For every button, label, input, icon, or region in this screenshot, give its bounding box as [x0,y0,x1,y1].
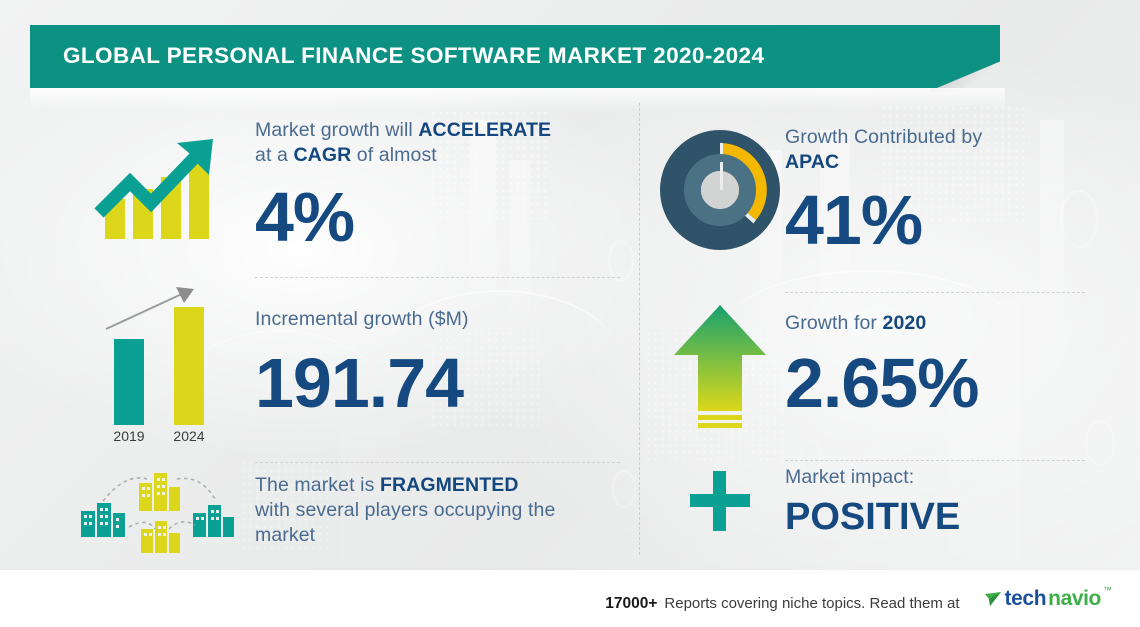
technavio-logo[interactable]: technavio™ [983,587,1112,611]
fragmented-buildings-icon [60,460,255,560]
market-impact-lead: Market impact: [785,465,1085,490]
two-bar-growth-icon: 2019 2024 [60,283,255,443]
fragmented-line-3: market [255,524,315,546]
donut-chart-icon [655,120,785,260]
report-count: 17000+ [605,595,657,613]
cagr-accelerate-word: ACCELERATE [418,119,551,141]
bg-ring [1085,420,1115,466]
footer: 17000+ Reports covering niche topics. Re… [0,571,1140,627]
cagr-lead: Market growth will ACCELERATE at a CAGR … [255,118,620,168]
plus-icon [655,456,785,546]
fragmented-lead: The market is FRAGMENTED with several pl… [255,473,620,548]
apac-lead: Growth Contributed by APAC [785,125,1085,175]
market-impact-value: POSITIVE [785,498,1085,536]
stat-block-market-impact: Market impact: POSITIVE [655,448,1085,553]
apac-word: APAC [785,151,839,173]
cagr-text: Market growth will ACCELERATE at a CAGR … [255,118,620,252]
stat-block-growth-2020: Growth for 2020 2.65% [655,280,1085,448]
growth-arrow-chart-icon [60,115,255,255]
bar-label-2019: 2019 [113,428,144,443]
growth-2020-text: Growth for 2020 2.65% [785,311,1085,418]
growth-2020-value: 2.65% [785,348,1085,418]
growth-2020-year: 2020 [883,312,927,334]
incremental-growth-text: Incremental growth ($M) 191.74 [255,307,620,418]
cagr-word: CAGR [293,144,351,166]
cagr-lead-plain-3: of almost [351,144,437,166]
logo-tech-text: tech [1005,587,1047,611]
header-banner: GLOBAL PERSONAL FINANCE SOFTWARE MARKET … [30,25,1000,88]
up-arrow-icon [655,294,785,434]
left-column: Market growth will ACCELERATE at a CAGR … [60,100,620,565]
growth-2020-plain: Growth for [785,312,883,334]
fragmented-plain-1: The market is [255,474,380,496]
stat-block-apac: Growth Contributed by APAC 41% [655,100,1085,280]
bar-label-2024: 2024 [173,428,204,443]
market-impact-text: Market impact: POSITIVE [785,465,1085,536]
stat-block-cagr: Market growth will ACCELERATE at a CAGR … [60,100,620,270]
stat-block-fragmented: The market is FRAGMENTED with several pl… [60,455,620,565]
apac-value: 41% [785,185,1085,255]
infographic-canvas: GLOBAL PERSONAL FINANCE SOFTWARE MARKET … [0,0,1140,627]
cagr-lead-plain-2: at a [255,144,293,166]
cagr-lead-plain-1: Market growth will [255,119,418,141]
footer-text: Reports covering niche topics. Read them… [664,595,959,612]
logo-navio-text: navio [1048,587,1101,611]
growth-2020-lead: Growth for 2020 [785,311,1085,336]
right-column: Growth Contributed by APAC 41% [655,100,1085,553]
fragmented-text: The market is FRAGMENTED with several pl… [255,473,620,548]
apac-text: Growth Contributed by APAC 41% [785,125,1085,255]
page-title: GLOBAL PERSONAL FINANCE SOFTWARE MARKET … [63,43,764,69]
logo-trademark: ™ [1103,585,1112,595]
fragmented-line-2: with several players occupying the [255,499,555,521]
cagr-value: 4% [255,182,620,252]
column-divider [639,103,640,555]
technavio-triangle-icon [983,589,1003,609]
incremental-growth-value: 191.74 [255,348,620,418]
incremental-growth-lead: Incremental growth ($M) [255,307,620,332]
apac-lead-line-1: Growth Contributed by [785,126,982,148]
stat-block-incremental-growth: 2019 2024 Incremental growth ($M) 191.74 [60,270,620,455]
fragmented-word: FRAGMENTED [380,474,519,496]
